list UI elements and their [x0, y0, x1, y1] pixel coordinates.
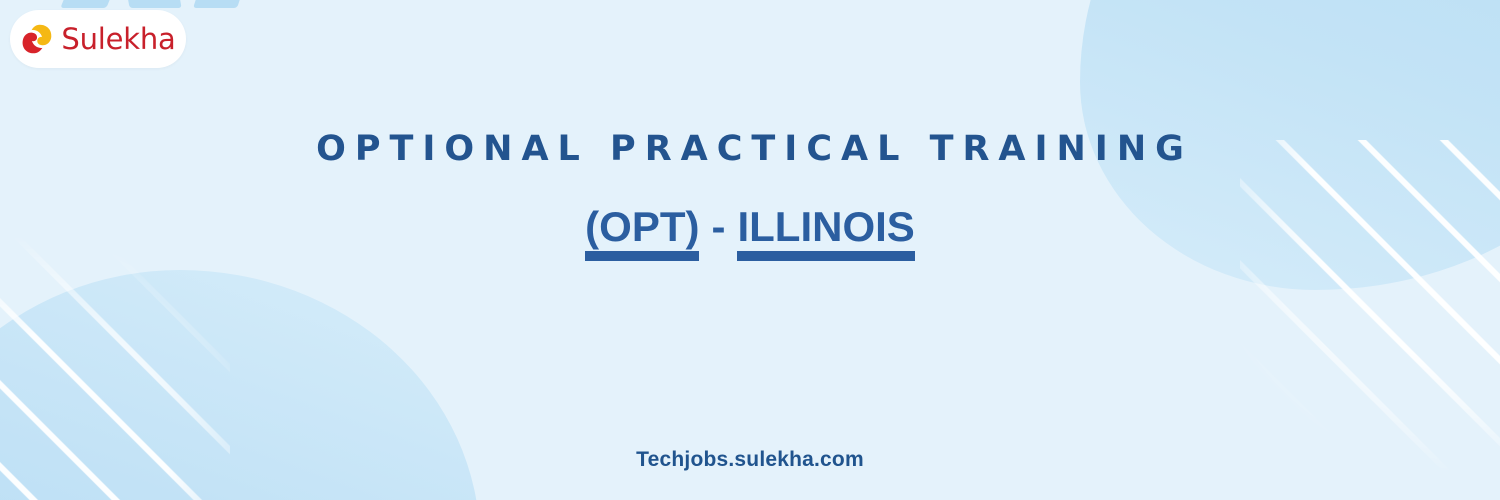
- opt-illinois-banner: Sulekha OPTIONAL PRACTICAL TRAINING (OPT…: [0, 0, 1500, 500]
- subheadline-separator: -: [711, 205, 725, 249]
- footer-url[interactable]: Techjobs.sulekha.com: [0, 448, 1500, 472]
- banner-subheadline: (OPT) - ILLINOIS: [585, 205, 915, 253]
- subheadline-illinois: ILLINOIS: [737, 205, 914, 253]
- banner-headline: OPTIONAL PRACTICAL TRAINING: [307, 132, 1193, 167]
- subheadline-opt: (OPT): [585, 205, 699, 253]
- banner-content: OPTIONAL PRACTICAL TRAINING (OPT) - ILLI…: [0, 0, 1500, 500]
